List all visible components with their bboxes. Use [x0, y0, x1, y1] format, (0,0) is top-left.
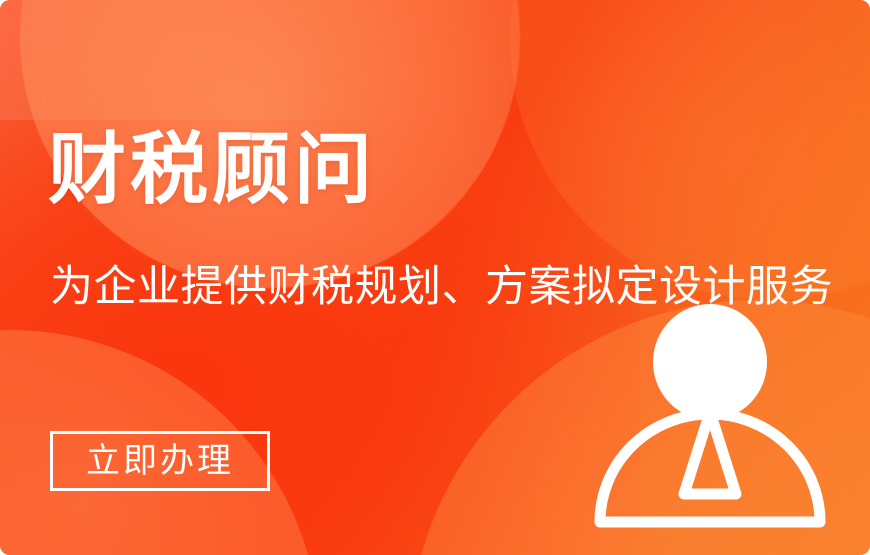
business-advisor-person-icon	[588, 300, 836, 540]
person-body-shape	[600, 414, 820, 522]
person-tie-shape	[684, 412, 736, 494]
promo-banner: 财税顾问 为企业提供财税规划、方案拟定设计服务 立即办理	[0, 0, 870, 555]
apply-now-button[interactable]: 立即办理	[50, 431, 270, 491]
person-head-shape	[653, 304, 767, 420]
banner-headline: 财税顾问	[48, 130, 376, 208]
banner-content: 财税顾问 为企业提供财税规划、方案拟定设计服务 立即办理	[0, 0, 870, 555]
